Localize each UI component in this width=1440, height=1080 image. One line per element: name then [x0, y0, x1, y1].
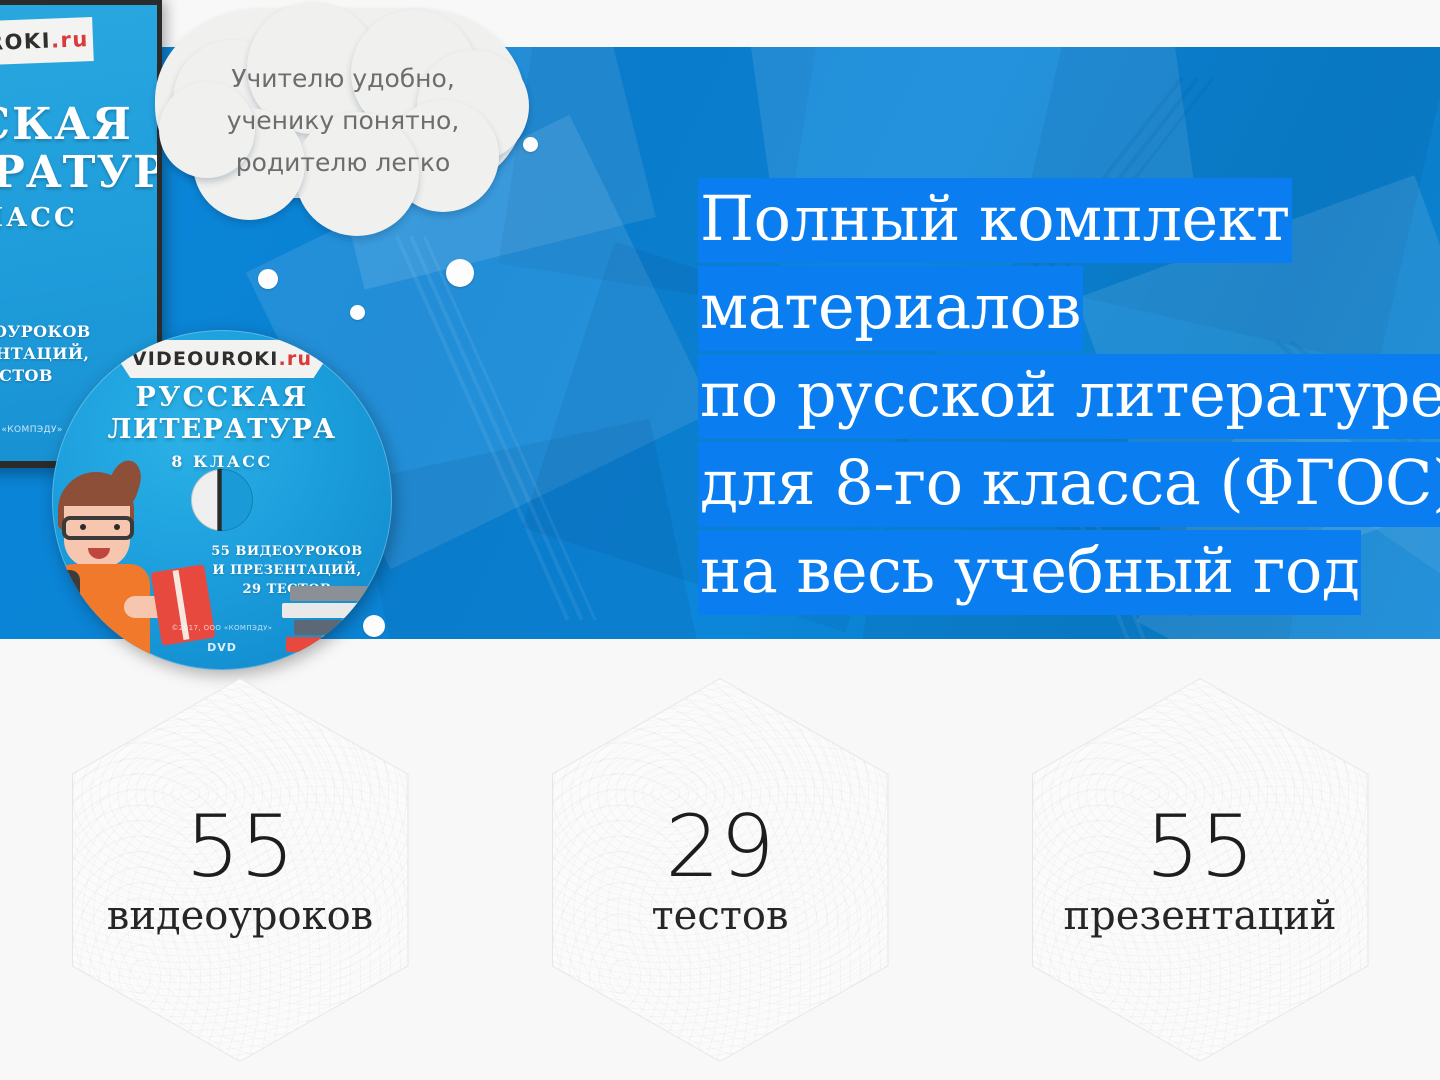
dvd-disc-title: РУССКАЯ ЛИТЕРАТУРА 8 КЛАСС	[52, 382, 392, 471]
dvd-disc-copyright: ©2017, ООО «КОМПЭДУ»	[52, 624, 392, 632]
headline-line-5: на весь учебный год	[700, 527, 1440, 615]
stat-value: 55	[185, 804, 294, 890]
headline-line-2: материалов	[700, 263, 1440, 351]
disc-book-2	[282, 603, 390, 618]
boy-eye-icon	[80, 524, 86, 530]
stat-value: 55	[1145, 804, 1254, 890]
stat-label: видеоуроков	[107, 896, 373, 936]
bubble-dot-3	[350, 305, 365, 320]
stat-hexagon-presentations: 55 презентаций	[1033, 679, 1368, 1061]
stats-section: 55 видеоуроков 29 тестов 55 презентаций	[0, 660, 1440, 1080]
videouroki-logo-disc: VIDEOUROKI.ru	[118, 340, 326, 378]
dvd-disc: VIDEOUROKI.ru РУССКАЯ ЛИТЕРАТУРА 8 КЛАСС…	[52, 330, 392, 670]
bubble-line-3: родителю легко	[236, 148, 451, 177]
headline-line-3: по русской литературе	[700, 351, 1440, 439]
bubble-dot-2	[446, 259, 474, 287]
speech-bubble: Учителю удобно, ученику понятно, родител…	[155, 8, 545, 258]
bubble-line-1: Учителю удобно,	[231, 64, 455, 93]
disc-book-1	[290, 586, 386, 601]
boy-glasses-icon	[62, 516, 134, 540]
disc-book-4	[286, 637, 390, 652]
videouroki-logo-case: VIDEOUROKI.ru	[0, 17, 94, 69]
landing-page: Полный комплект материалов по русской ли…	[0, 0, 1440, 1080]
boy-eye-2-icon	[114, 524, 120, 530]
bubble-line-2: ученику понятно,	[227, 106, 460, 135]
stat-hexagon-tests: 29 тестов	[553, 679, 888, 1061]
headline-line-4: для 8-го класса (ФГОС)	[700, 439, 1440, 527]
dvd-disc-hole	[191, 469, 253, 531]
stat-hexagon-videolessons: 55 видеоуроков	[73, 679, 408, 1061]
speech-bubble-text: Учителю удобно, ученику понятно, родител…	[183, 58, 503, 184]
bubble-dot-4	[258, 269, 278, 289]
dvd-case-title: РУССКАЯ ЛИТЕРАТУРА 8 КЛАСС	[0, 101, 157, 232]
hero-headline: Полный комплект материалов по русской ли…	[700, 175, 1440, 615]
headline-line-1: Полный комплект	[700, 175, 1440, 263]
stat-label: презентаций	[1063, 896, 1336, 936]
stat-value: 29	[665, 804, 774, 890]
stat-label: тестов	[652, 896, 789, 936]
dvd-format-logo: DVD	[207, 641, 237, 654]
